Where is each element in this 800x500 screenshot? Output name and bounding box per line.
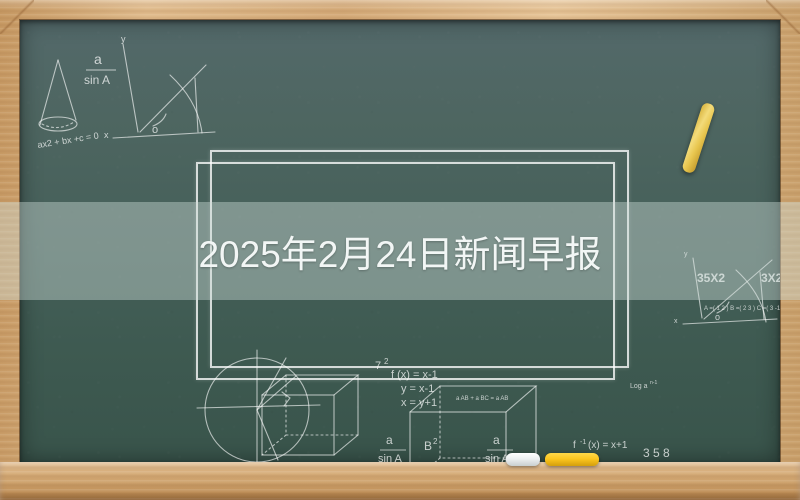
label-b: B: [424, 439, 432, 453]
page-title: 2025年2月24日新闻早报: [0, 202, 800, 300]
label-log-exp: n-1: [650, 380, 657, 386]
label-add-1: 3 5 8: [643, 446, 670, 460]
angle-diagram-left: [113, 44, 215, 138]
label-b-exp: 2: [433, 437, 438, 446]
yellow-chalk-ledge-icon: [545, 453, 599, 466]
label-y-eq: y = x-1: [401, 383, 434, 395]
label-log: Log a: [630, 383, 648, 390]
label-angle-o-left: o: [152, 124, 158, 136]
label-inverse-fx: f: [573, 440, 576, 451]
label-small-expr: a AB + a BC = a AB: [456, 396, 508, 402]
label-x-eq: x = y+1: [401, 397, 437, 409]
cube-drawing-center: [262, 375, 358, 455]
label-a-num-2: a: [386, 433, 393, 447]
chalkboard-banner: a sin A y x o ax2 + bx +c = 0 y x o f (x…: [0, 0, 800, 500]
label-quadratic: ax2 + bx +c = 0: [37, 130, 100, 150]
label-axis-y-left: y: [121, 34, 126, 44]
white-chalk-icon: [506, 453, 540, 466]
label-a-num-3: a: [493, 433, 500, 447]
label-inverse-exp: -1: [580, 439, 586, 446]
chalk-ledge: [0, 462, 800, 500]
label-sinA-denominator: sin A: [84, 73, 110, 87]
label-angle-o-right: o: [715, 312, 720, 322]
cone-drawing: [39, 60, 77, 131]
label-matrices: A =( 1 2 ) B =( 2 3 ) C =( 3 -1 ): [704, 306, 780, 312]
label-sinA-2: sin A: [378, 453, 403, 462]
label-axis-x-right: x: [674, 318, 678, 325]
cube-drawing-right: [410, 386, 536, 462]
label-axis-x-left: x: [104, 130, 109, 140]
label-a-numerator: a: [94, 51, 102, 67]
yellow-chalk-icon: [681, 102, 716, 174]
label-inverse-rest: (x) = x+1: [588, 440, 628, 451]
